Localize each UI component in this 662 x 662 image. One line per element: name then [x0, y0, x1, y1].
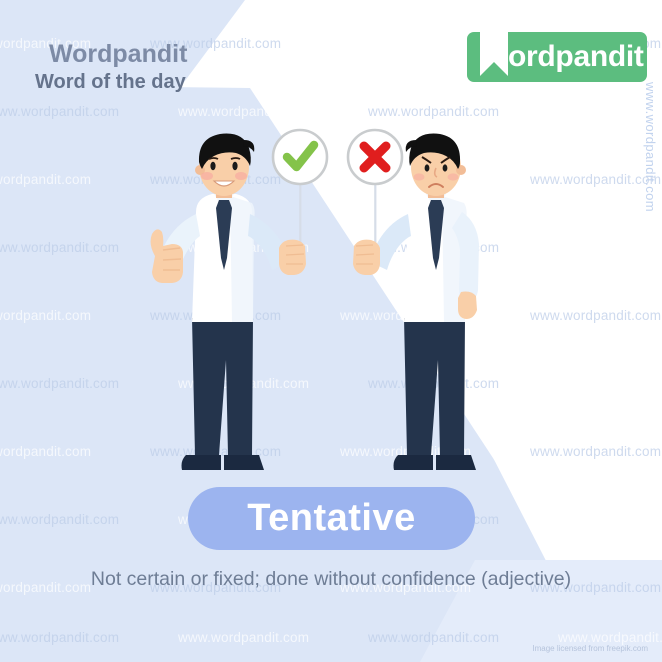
right-hand [458, 292, 477, 320]
check-sign-group [273, 130, 327, 255]
illustration [0, 0, 662, 662]
word-term: Tentative [247, 497, 416, 540]
word-definition: Not certain or fixed; done without confi… [0, 568, 662, 591]
right-trousers [404, 318, 465, 455]
left-hand-grip [279, 240, 306, 275]
left-character [151, 134, 306, 470]
word-banner: Tentative [188, 487, 475, 550]
left-trousers [192, 318, 253, 455]
word-of-the-day-card: www.wordpandit.comwww.wordpandit.comwww.… [0, 0, 662, 662]
image-credit: Image licensed from freepik.com [532, 644, 648, 653]
right-hand-grip [353, 240, 380, 275]
